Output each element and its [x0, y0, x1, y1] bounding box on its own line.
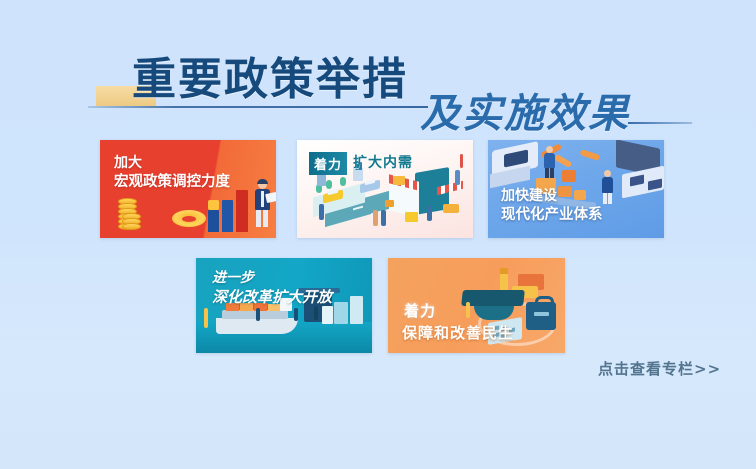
card-domestic-demand-tag: 着力 — [309, 152, 347, 175]
card-industrial-system-line2: 现代化产业体系 — [501, 207, 603, 223]
title-rule-right — [628, 122, 692, 124]
robot-arm-base-shape — [562, 170, 576, 182]
robot-arm-icon — [580, 149, 601, 161]
card-livelihood[interactable]: 着力 保障和改善民生 — [388, 258, 565, 353]
person-icon — [314, 306, 318, 320]
warehouse-shape — [350, 296, 363, 324]
card-industrial-system[interactable]: 加快建设 现代化产业体系 — [488, 140, 664, 238]
title-rule-left — [88, 106, 428, 108]
warehouse-shape — [322, 306, 333, 324]
card-domestic-demand-label: 扩大内需 — [353, 152, 413, 172]
card-macro-policy-label: 加大 宏观政策调控力度 — [114, 155, 230, 192]
person-icon — [256, 308, 260, 321]
card-industrial-system-line1: 加快建设 — [501, 188, 557, 204]
card-reform-opening-label: 进一步 深化改革扩大开放 — [212, 270, 332, 308]
bar-chart-icon — [208, 188, 252, 232]
card-reform-opening-line1: 进一步 — [212, 270, 254, 286]
tree-icon — [326, 180, 332, 189]
bollard-icon — [204, 308, 208, 328]
package-box-icon — [393, 176, 405, 185]
robot-arm-icon — [554, 154, 573, 168]
card-livelihood-label: 保障和改善民生 — [402, 322, 514, 343]
person-icon — [427, 206, 432, 221]
person-worker-icon — [542, 146, 556, 178]
person-icon — [319, 204, 324, 220]
person-icon — [294, 308, 298, 321]
card-macro-policy-line1: 加大 — [114, 155, 142, 171]
package-box-icon — [385, 200, 394, 207]
page-subtitle: 及实施效果 — [420, 90, 630, 138]
tree-icon — [340, 177, 346, 186]
graduation-cap-tassel-icon — [466, 302, 470, 318]
card-macro-policy-line2: 宏观政策调控力度 — [114, 174, 230, 190]
person-icon — [455, 170, 460, 185]
package-box-icon — [405, 212, 418, 222]
ship-deck-shape — [222, 310, 288, 319]
card-reform-opening-line2: 深化改革扩大开放 — [212, 288, 332, 306]
briefcase-latch-shape — [534, 312, 549, 316]
card-reform-opening[interactable]: 进一步 深化改革扩大开放 — [196, 258, 372, 353]
package-cart-icon — [443, 204, 459, 213]
graduation-cap-icon — [461, 290, 525, 306]
page-title: 重要政策举措 — [132, 54, 408, 106]
infographic-page: 重要政策举措 及实施效果 — [0, 0, 756, 469]
card-livelihood-tag: 着力 — [404, 300, 436, 321]
person-icon — [373, 210, 378, 226]
card-domestic-demand[interactable]: 着力 扩大内需 — [297, 140, 473, 238]
streetlamp-icon — [460, 154, 463, 168]
signboard-icon — [317, 174, 326, 186]
warehouse-shape — [334, 302, 348, 324]
pencil-tip-shape — [500, 268, 508, 274]
card-industrial-system-label: 加快建设 现代化产业体系 — [501, 188, 603, 225]
view-column-link[interactable]: 点击查看专栏>> — [598, 358, 721, 379]
card-macro-policy[interactable]: 加大 宏观政策调控力度 — [100, 140, 276, 238]
briefcase-handle-shape — [535, 296, 554, 308]
person-icon — [381, 210, 386, 226]
person-analyst-icon — [252, 180, 274, 232]
page-title-block: 重要政策举措 及实施效果 — [0, 26, 756, 121]
